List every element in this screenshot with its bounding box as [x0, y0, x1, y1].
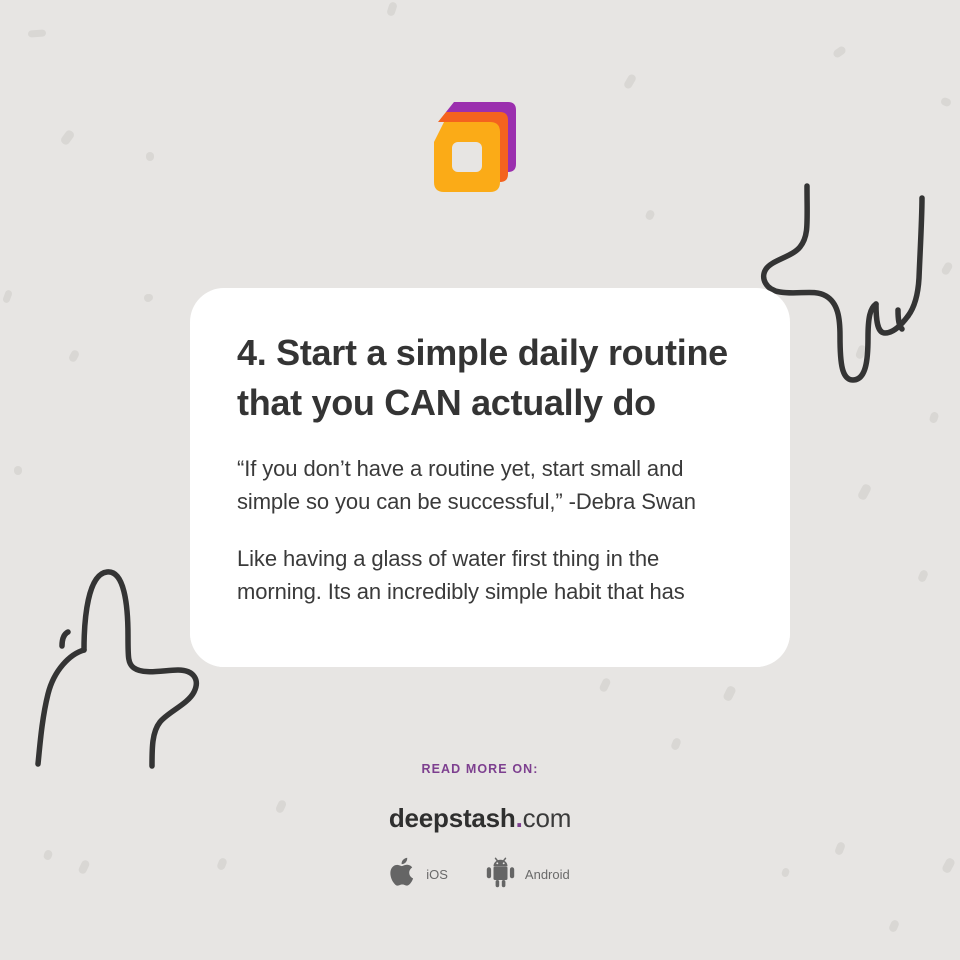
confetti-dash [146, 294, 153, 301]
confetti-dash [940, 97, 952, 108]
footer: READ MORE ON: deepstash.com iOS [0, 762, 960, 893]
poster-canvas: 4. Start a simple daily routine that you… [0, 0, 960, 960]
brand-tld: com [523, 803, 572, 833]
read-more-label: READ MORE ON: [0, 762, 960, 776]
confetti-dash [644, 209, 655, 221]
confetti-dash [598, 677, 611, 693]
card-body-text: Like having a glass of water first thing… [237, 542, 743, 608]
confetti-dash [386, 1, 398, 17]
confetti-dash [144, 294, 152, 302]
idea-card[interactable]: 4. Start a simple daily routine that you… [190, 288, 790, 667]
android-icon [485, 856, 516, 893]
brand-wordmark[interactable]: deepstash.com [0, 803, 960, 834]
deepstash-logo [424, 98, 524, 202]
confetti-dash [888, 919, 900, 933]
confetti-dash [59, 129, 75, 146]
ios-store-link[interactable]: iOS [390, 856, 448, 893]
confetti-dash [68, 349, 81, 363]
text-fade-overlay [190, 605, 790, 667]
confetti-dash [917, 569, 929, 583]
android-store-link[interactable]: Android [485, 856, 570, 893]
brand-dot: . [516, 803, 523, 833]
deepstash-logo-icon [424, 98, 524, 202]
confetti-dash [928, 411, 939, 424]
apple-icon [390, 856, 417, 893]
confetti-dash [670, 737, 682, 751]
page-title: 4. Start a simple daily routine that you… [237, 328, 743, 428]
brand-name: deepstash [389, 803, 516, 833]
ios-store-label: iOS [426, 867, 448, 882]
confetti-dash [28, 29, 46, 37]
confetti-dash [2, 289, 13, 304]
card-quote: “If you don’t have a routine yet, start … [237, 452, 743, 518]
confetti-dash [857, 483, 872, 501]
confetti-dash [832, 45, 847, 59]
confetti-dash [146, 152, 154, 161]
confetti-dash [722, 685, 737, 702]
android-store-label: Android [525, 867, 570, 882]
idea-card-content: 4. Start a simple daily routine that you… [190, 288, 790, 608]
confetti-dash [14, 466, 22, 475]
confetti-dash [623, 73, 637, 90]
app-store-links: iOS [0, 856, 960, 893]
